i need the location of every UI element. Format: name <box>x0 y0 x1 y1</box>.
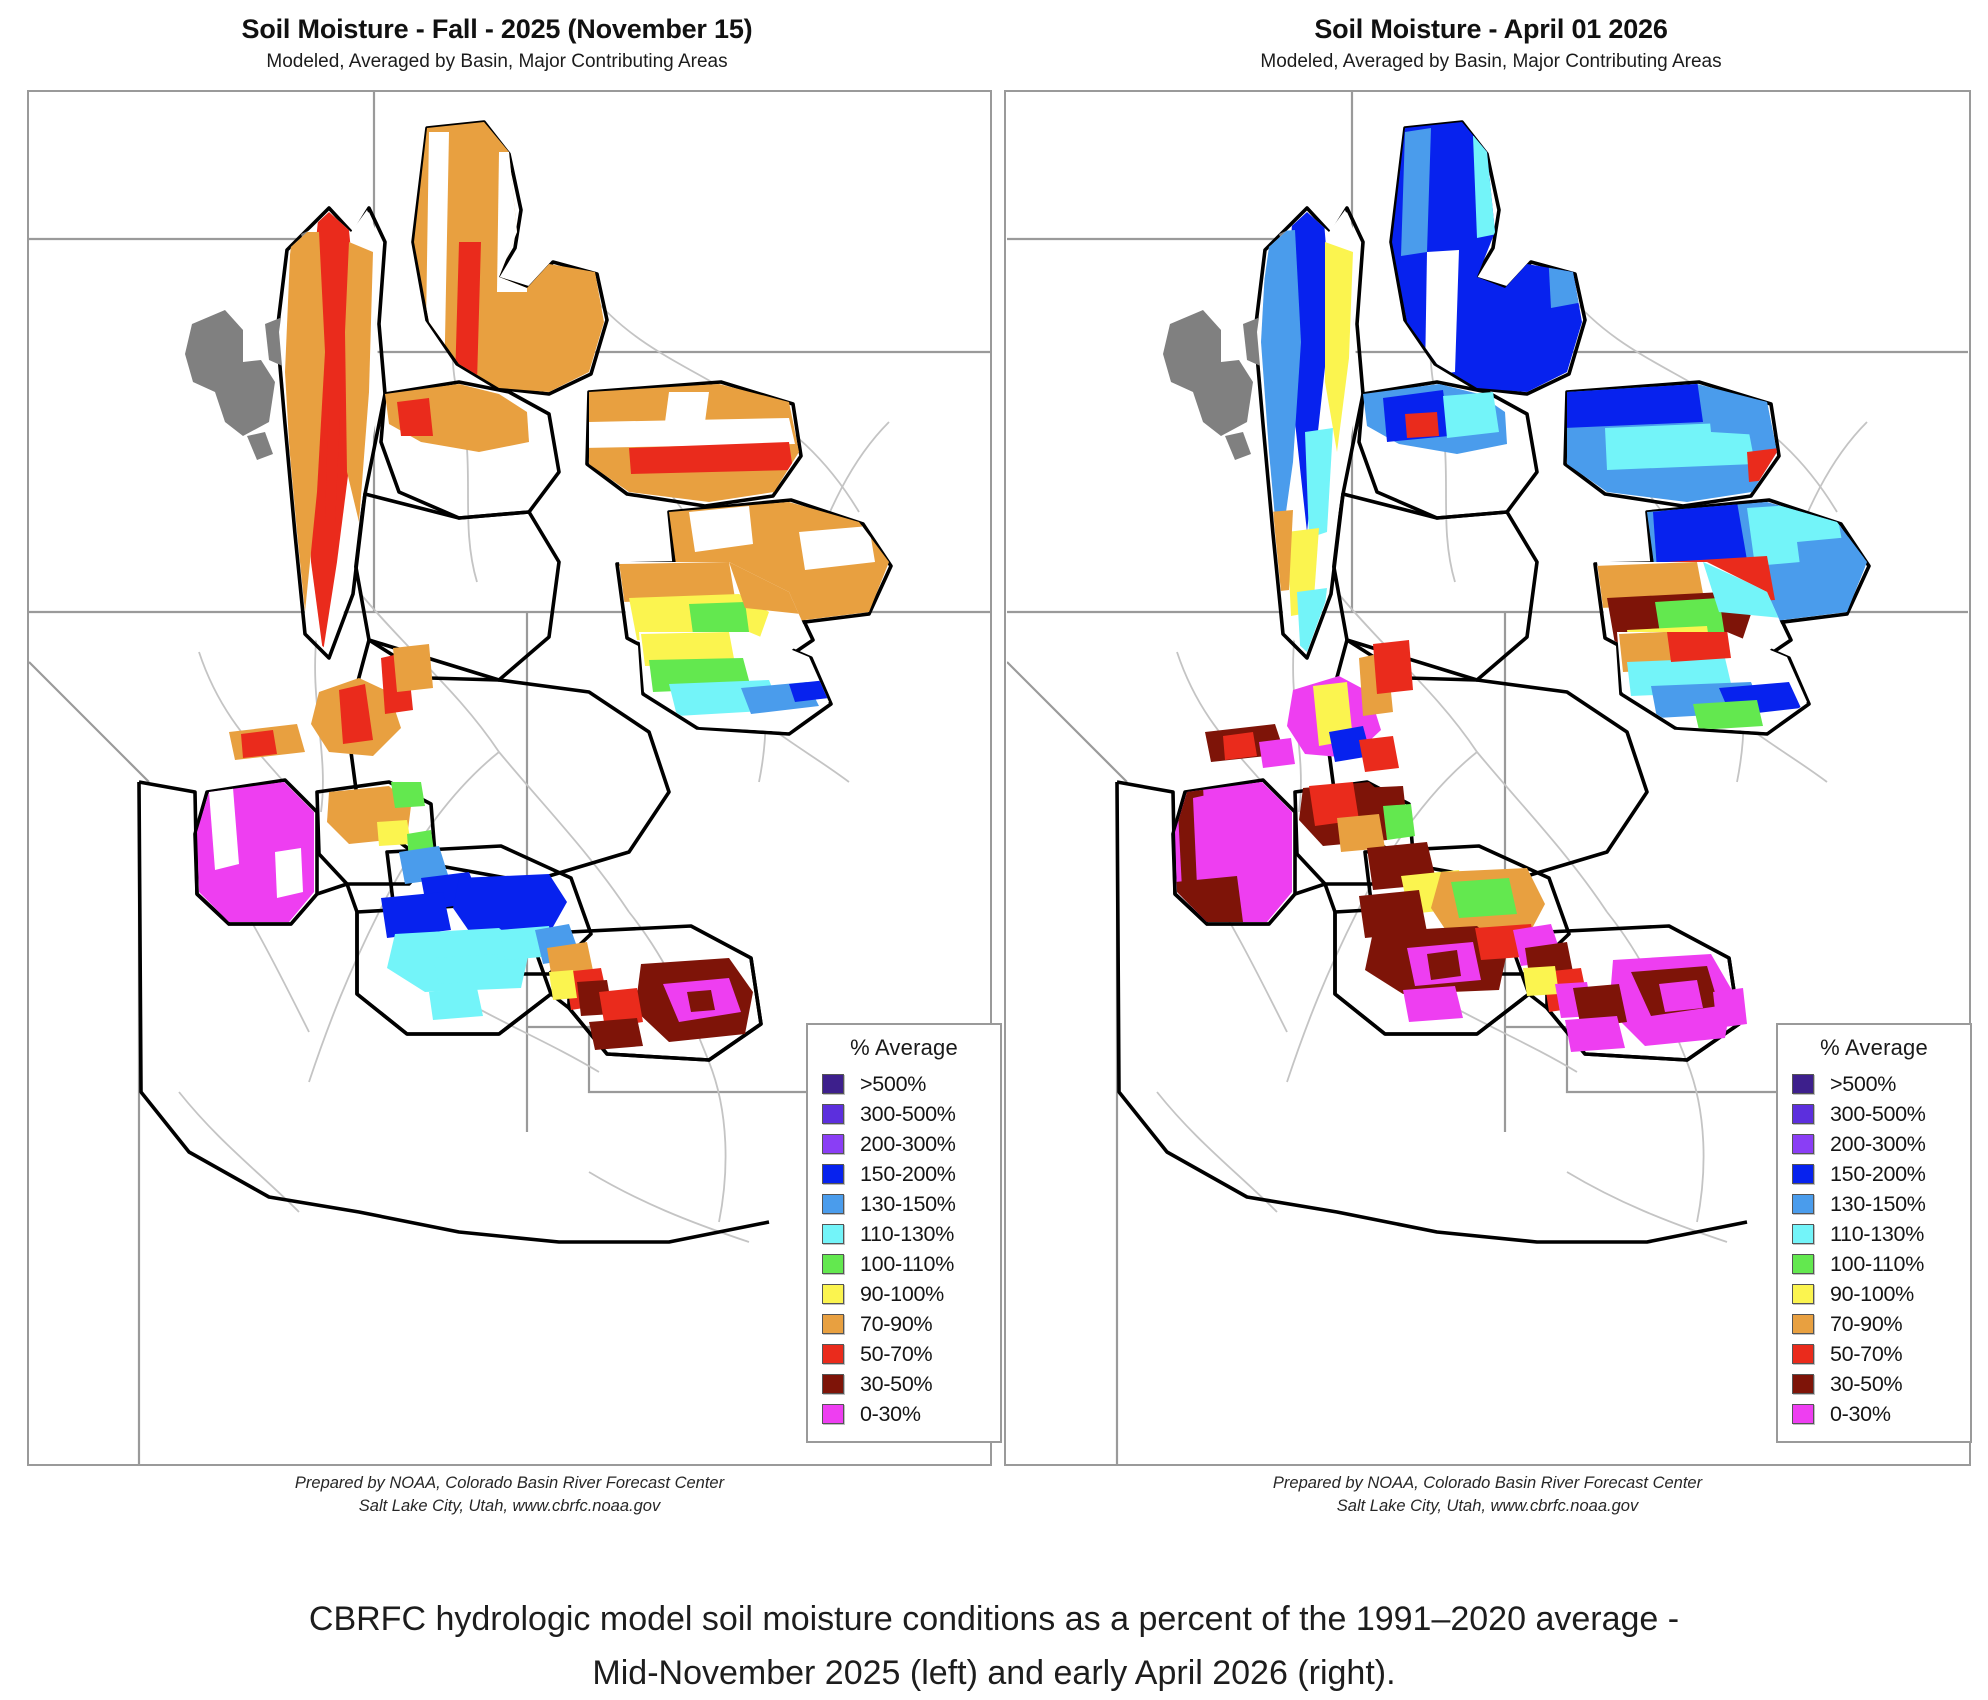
legend-swatch-icon <box>1792 1194 1814 1214</box>
legend-row-right-10: 30-50% <box>1792 1369 1970 1399</box>
legend-rows-left: >500%300-500%200-300%150-200%130-150%110… <box>808 1069 1000 1429</box>
legend-swatch-icon <box>1792 1284 1814 1304</box>
credit-line2-right: Salt Lake City, Utah, www.cbrfc.noaa.gov <box>1004 1495 1971 1518</box>
legend-swatch-icon <box>1792 1404 1814 1424</box>
legend-label: 100-110% <box>860 1252 954 1277</box>
legend-row-left-7: 90-100% <box>822 1279 1000 1309</box>
credit-left: Prepared by NOAA, Colorado Basin River F… <box>27 1472 992 1518</box>
legend-label: 0-30% <box>1830 1402 1891 1427</box>
panel-subtitle-left: Modeled, Averaged by Basin, Major Contri… <box>0 51 994 73</box>
legend-row-right-0: >500% <box>1792 1069 1970 1099</box>
legend-swatch-icon <box>1792 1164 1814 1184</box>
legend-row-left-2: 200-300% <box>822 1129 1000 1159</box>
legend-right: % Average >500%300-500%200-300%150-200%1… <box>1776 1023 1972 1443</box>
legend-swatch-icon <box>1792 1224 1814 1244</box>
legend-row-right-5: 110-130% <box>1792 1219 1970 1249</box>
legend-swatch-icon <box>1792 1074 1814 1094</box>
legend-label: 300-500% <box>1830 1102 1926 1127</box>
legend-label: 200-300% <box>860 1132 956 1157</box>
legend-swatch-icon <box>822 1344 844 1364</box>
legend-swatch-icon <box>822 1404 844 1424</box>
legend-row-left-11: 0-30% <box>822 1399 1000 1429</box>
legend-swatch-icon <box>822 1134 844 1154</box>
legend-row-left-1: 300-500% <box>822 1099 1000 1129</box>
legend-label: 50-70% <box>1830 1342 1902 1367</box>
legend-label: 90-100% <box>1830 1282 1914 1307</box>
credit-line1-left: Prepared by NOAA, Colorado Basin River F… <box>27 1472 992 1495</box>
soil-moisture-figure: Soil Moisture - Fall - 2025 (November 15… <box>0 0 1988 1688</box>
legend-row-left-9: 50-70% <box>822 1339 1000 1369</box>
legend-left: % Average >500%300-500%200-300%150-200%1… <box>806 1023 1002 1443</box>
legend-label: 150-200% <box>1830 1162 1926 1187</box>
legend-label: 130-150% <box>860 1192 956 1217</box>
caption-line1: CBRFC hydrologic model soil moisture con… <box>0 1592 1988 1646</box>
panel-title-left: Soil Moisture - Fall - 2025 (November 15… <box>0 14 994 45</box>
panel-subtitle-right: Modeled, Averaged by Basin, Major Contri… <box>994 51 1988 73</box>
legend-label: 130-150% <box>1830 1192 1926 1217</box>
legend-row-right-8: 70-90% <box>1792 1309 1970 1339</box>
legend-label: 70-90% <box>1830 1312 1902 1337</box>
legend-swatch-icon <box>1792 1134 1814 1154</box>
legend-row-left-0: >500% <box>822 1069 1000 1099</box>
legend-swatch-icon <box>822 1374 844 1394</box>
legend-label: 30-50% <box>860 1372 932 1397</box>
legend-label: 100-110% <box>1830 1252 1924 1277</box>
legend-swatch-icon <box>822 1074 844 1094</box>
legend-swatch-icon <box>1792 1374 1814 1394</box>
legend-label: 50-70% <box>860 1342 932 1367</box>
legend-row-right-4: 130-150% <box>1792 1189 1970 1219</box>
legend-row-right-6: 100-110% <box>1792 1249 1970 1279</box>
legend-row-left-3: 150-200% <box>822 1159 1000 1189</box>
legend-row-right-2: 200-300% <box>1792 1129 1970 1159</box>
legend-row-left-8: 70-90% <box>822 1309 1000 1339</box>
legend-label: 200-300% <box>1830 1132 1926 1157</box>
legend-row-right-11: 0-30% <box>1792 1399 1970 1429</box>
legend-label: 110-130% <box>860 1222 954 1247</box>
legend-row-right-1: 300-500% <box>1792 1099 1970 1129</box>
legend-swatch-icon <box>1792 1314 1814 1334</box>
legend-swatch-icon <box>822 1284 844 1304</box>
panel-title-right: Soil Moisture - April 01 2026 <box>994 14 1988 45</box>
legend-label: >500% <box>860 1072 926 1097</box>
credit-line1-right: Prepared by NOAA, Colorado Basin River F… <box>1004 1472 1971 1495</box>
caption-line2: Mid-November 2025 (left) and early April… <box>0 1646 1988 1700</box>
legend-label: 30-50% <box>1830 1372 1902 1397</box>
legend-swatch-icon <box>822 1224 844 1244</box>
legend-row-left-6: 100-110% <box>822 1249 1000 1279</box>
legend-label: 90-100% <box>860 1282 944 1307</box>
legend-swatch-icon <box>822 1194 844 1214</box>
legend-title-left: % Average <box>808 1035 1000 1061</box>
legend-swatch-icon <box>1792 1104 1814 1124</box>
legend-swatch-icon <box>1792 1344 1814 1364</box>
legend-rows-right: >500%300-500%200-300%150-200%130-150%110… <box>1778 1069 1970 1429</box>
panel-april-2026: Soil Moisture - April 01 2026 Modeled, A… <box>994 0 1988 1530</box>
legend-row-right-9: 50-70% <box>1792 1339 1970 1369</box>
credit-right: Prepared by NOAA, Colorado Basin River F… <box>1004 1472 1971 1518</box>
legend-row-right-7: 90-100% <box>1792 1279 1970 1309</box>
legend-swatch-icon <box>822 1104 844 1124</box>
legend-row-right-3: 150-200% <box>1792 1159 1970 1189</box>
legend-swatch-icon <box>822 1314 844 1334</box>
legend-label: 300-500% <box>860 1102 956 1127</box>
legend-label: >500% <box>1830 1072 1896 1097</box>
panel-fall-2025: Soil Moisture - Fall - 2025 (November 15… <box>0 0 994 1530</box>
legend-swatch-icon <box>822 1164 844 1184</box>
legend-row-left-5: 110-130% <box>822 1219 1000 1249</box>
legend-swatch-icon <box>1792 1254 1814 1274</box>
figure-caption: CBRFC hydrologic model soil moisture con… <box>0 1592 1988 1700</box>
credit-line2-left: Salt Lake City, Utah, www.cbrfc.noaa.gov <box>27 1495 992 1518</box>
legend-title-right: % Average <box>1778 1035 1970 1061</box>
legend-label: 70-90% <box>860 1312 932 1337</box>
legend-label: 110-130% <box>1830 1222 1924 1247</box>
legend-swatch-icon <box>822 1254 844 1274</box>
legend-label: 0-30% <box>860 1402 921 1427</box>
legend-label: 150-200% <box>860 1162 956 1187</box>
legend-row-left-10: 30-50% <box>822 1369 1000 1399</box>
legend-row-left-4: 130-150% <box>822 1189 1000 1219</box>
